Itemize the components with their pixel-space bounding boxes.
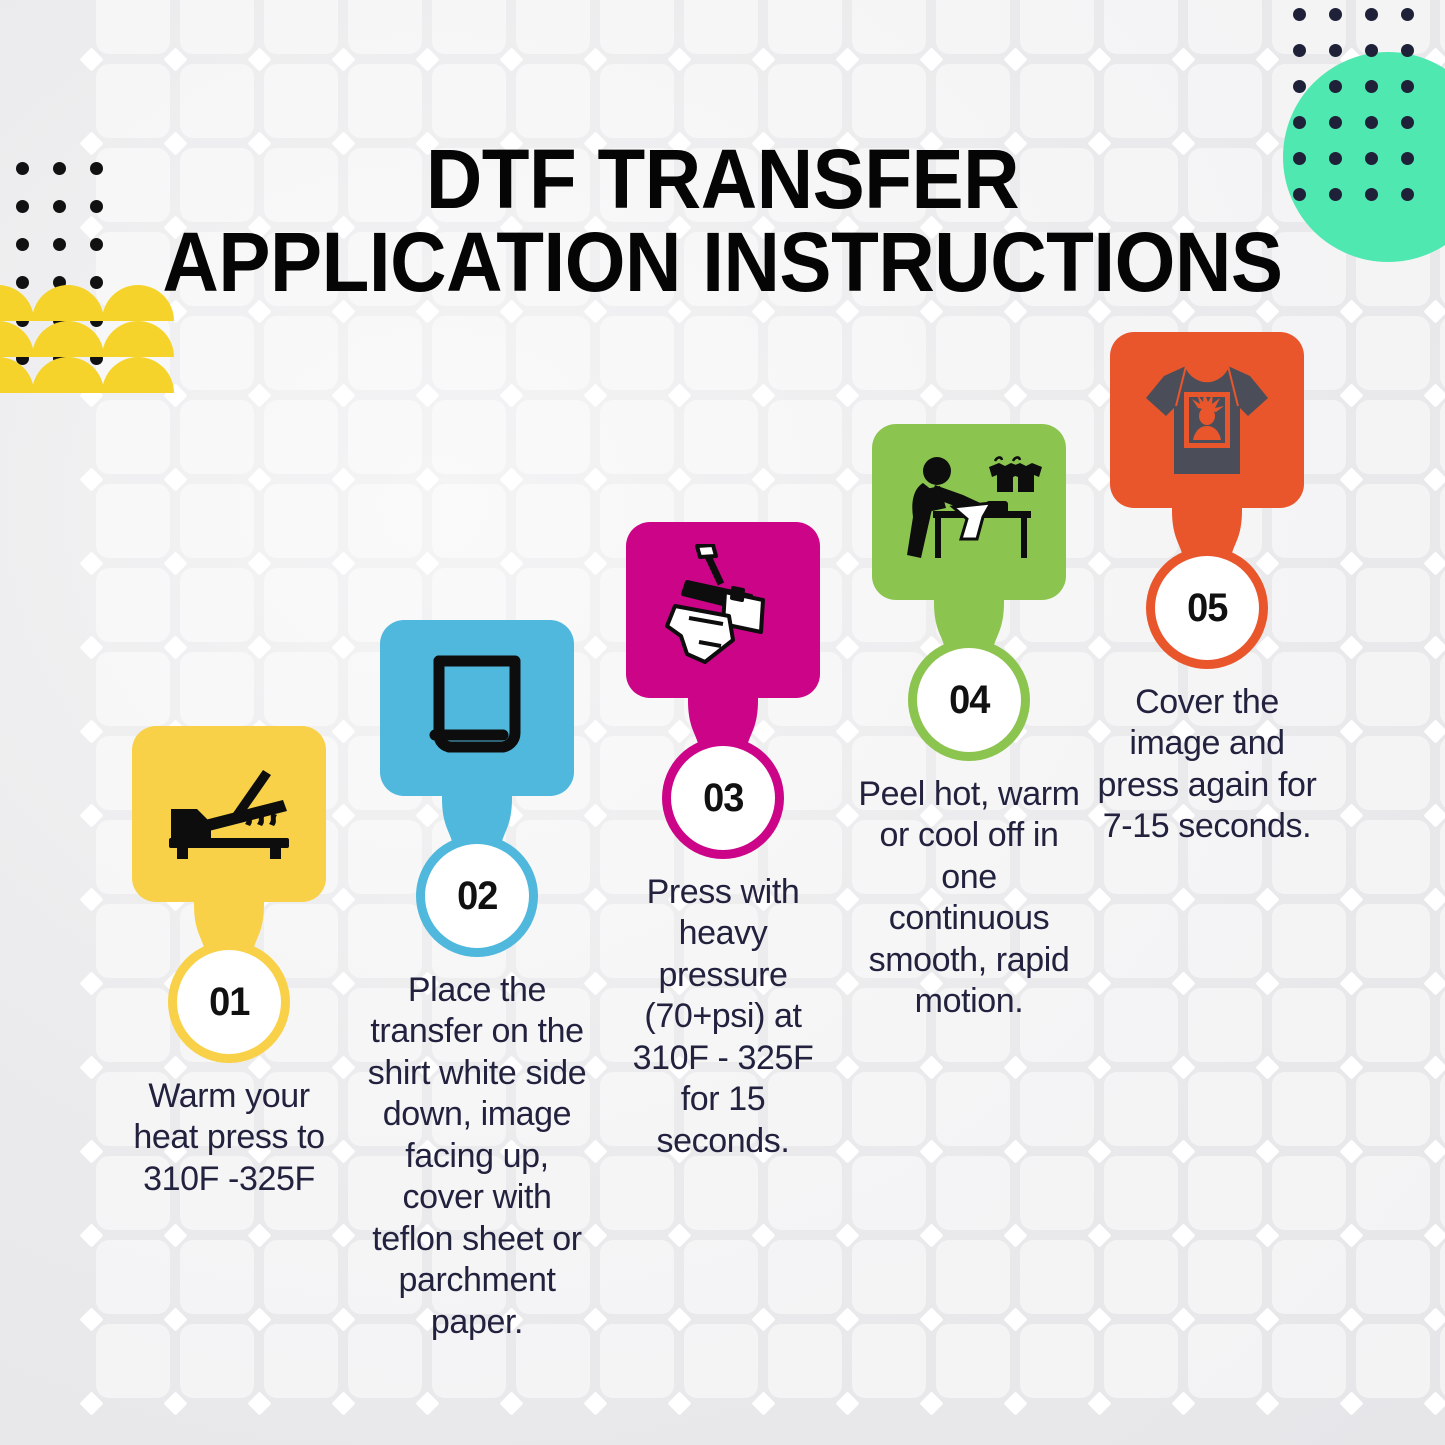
heat-press-machine-icon	[659, 544, 787, 676]
printed-tshirt-icon	[1140, 358, 1274, 482]
step-number-bubble-01: 01	[177, 950, 281, 1054]
peeling-transfer-icon	[893, 449, 1045, 575]
step-card-04: 04 Peel hot, warm or cool off in one con…	[858, 424, 1080, 1023]
step-number-03: 03	[703, 776, 743, 821]
step-number-bubble-03: 03	[671, 746, 775, 850]
step-number-01: 01	[209, 980, 249, 1025]
step-card-05: 05 Cover the image and press again for 7…	[1096, 332, 1318, 848]
step-card-02: 02 Place the transfer on the shirt white…	[366, 620, 588, 1343]
step-number-bubble-04: 04	[917, 648, 1021, 752]
step-number-02: 02	[457, 874, 497, 919]
step-number-05: 05	[1187, 586, 1227, 631]
icon-card-05	[1110, 332, 1304, 508]
step-text-03: Press with heavy pressure (70+psi) at 31…	[612, 872, 834, 1162]
icon-card-01	[132, 726, 326, 902]
heat-press-open-icon	[159, 764, 299, 864]
pin-04: 04	[858, 424, 1080, 752]
step-text-02: Place the transfer on the shirt white si…	[366, 970, 588, 1343]
pin-02: 02	[366, 620, 588, 948]
step-card-03: 03 Press with heavy pressure (70+psi) at…	[612, 522, 834, 1162]
step-number-bubble-05: 05	[1155, 556, 1259, 660]
transfer-sheet-icon	[419, 649, 535, 767]
pin-03: 03	[612, 522, 834, 850]
step-text-05: Cover the image and press again for 7-15…	[1096, 682, 1318, 848]
icon-card-02	[380, 620, 574, 796]
step-number-04: 04	[949, 678, 989, 723]
step-number-bubble-02: 02	[425, 844, 529, 948]
pin-01: 01	[118, 726, 340, 1054]
pin-05: 05	[1096, 332, 1318, 660]
icon-card-04	[872, 424, 1066, 600]
step-text-01: Warm your heat press to 310F -325F	[118, 1076, 340, 1200]
step-card-01: 01 Warm your heat press to 310F -325F	[118, 726, 340, 1200]
icon-card-03	[626, 522, 820, 698]
page-title: DTF TRANSFER APPLICATION INSTRUCTIONS	[51, 138, 1395, 304]
infographic-poster: DTF TRANSFER APPLICATION INSTRUCTIONS	[0, 0, 1445, 1445]
step-text-04: Peel hot, warm or cool off in one contin…	[858, 774, 1080, 1023]
